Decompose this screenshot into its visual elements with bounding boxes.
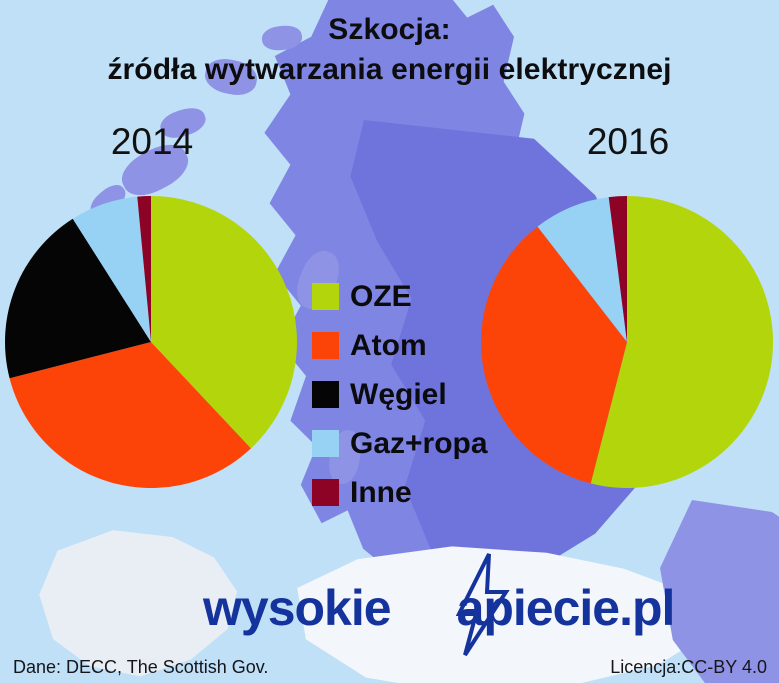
- legend-item-gaz-ropa: Gaz+ropa: [312, 419, 527, 468]
- legend-label-wegiel: Węgiel: [350, 380, 447, 410]
- chart-year-label-right: 2016: [538, 121, 718, 163]
- legend-swatch-atom: [312, 332, 339, 359]
- title-line-2: źródła wytwarzania energii elektrycznej: [0, 50, 779, 90]
- legend-item-inne: Inne: [312, 468, 527, 517]
- legend-swatch-wegiel: [312, 381, 339, 408]
- legend-label-oze: OZE: [350, 282, 412, 312]
- legend-label-gaz-ropa: Gaz+ropa: [350, 429, 488, 459]
- legend-swatch-gaz-ropa: [312, 430, 339, 457]
- chart-legend: OZE Atom Węgiel Gaz+ropa Inne: [312, 272, 527, 517]
- legend-item-wegiel: Węgiel: [312, 370, 527, 419]
- page-title: Szkocja: źródła wytwarzania energii elek…: [0, 10, 779, 90]
- legend-label-atom: Atom: [350, 331, 427, 361]
- legend-item-oze: OZE: [312, 272, 527, 321]
- watermark-logo[interactable]: wysokieapiecie.pl: [203, 583, 674, 633]
- infographic-canvas: Szkocja: źródła wytwarzania energii elek…: [0, 0, 779, 683]
- legend-swatch-oze: [312, 283, 339, 310]
- pie-chart-2014-svg: [5, 196, 297, 488]
- chart-year-label-left: 2014: [62, 121, 242, 163]
- legend-label-inne: Inne: [350, 478, 412, 508]
- title-line-1: Szkocja:: [328, 13, 451, 46]
- lightning-bolt-icon: [443, 552, 523, 657]
- legend-item-atom: Atom: [312, 321, 527, 370]
- legend-swatch-inne: [312, 479, 339, 506]
- watermark-text-left: wysokie: [203, 580, 391, 636]
- license-note: Licencja:CC-BY 4.0: [610, 657, 767, 678]
- source-note: Dane: DECC, The Scottish Gov.: [13, 657, 268, 678]
- pie-chart-2014: [5, 196, 297, 488]
